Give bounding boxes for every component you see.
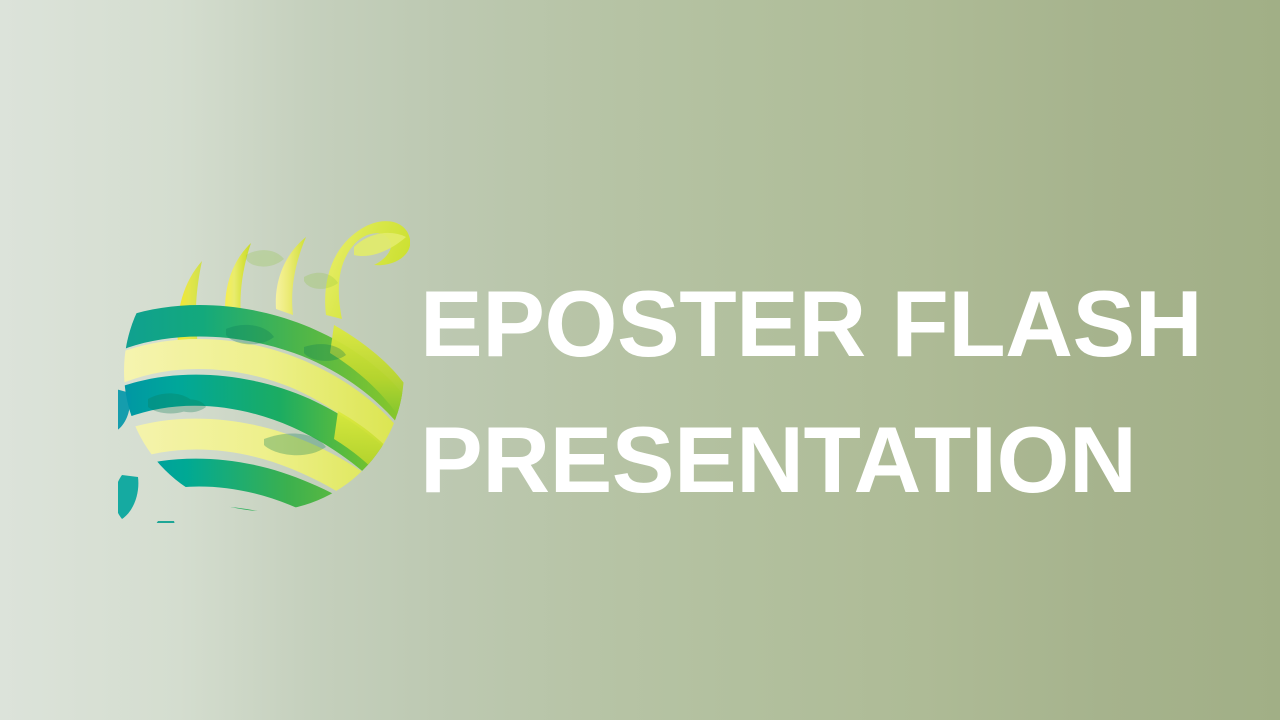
logo-globe-bands: [118, 250, 410, 523]
globe-ribbon-logo: [118, 203, 410, 523]
headline-line-2: PRESENTATION: [420, 392, 1220, 528]
headline-line-1: EPOSTER FLASH: [420, 256, 1220, 392]
slide-headline: EPOSTER FLASH PRESENTATION: [420, 256, 1220, 528]
presentation-slide: EPOSTER FLASH PRESENTATION: [0, 0, 1280, 720]
logo-swirl-leaf: [325, 221, 410, 319]
